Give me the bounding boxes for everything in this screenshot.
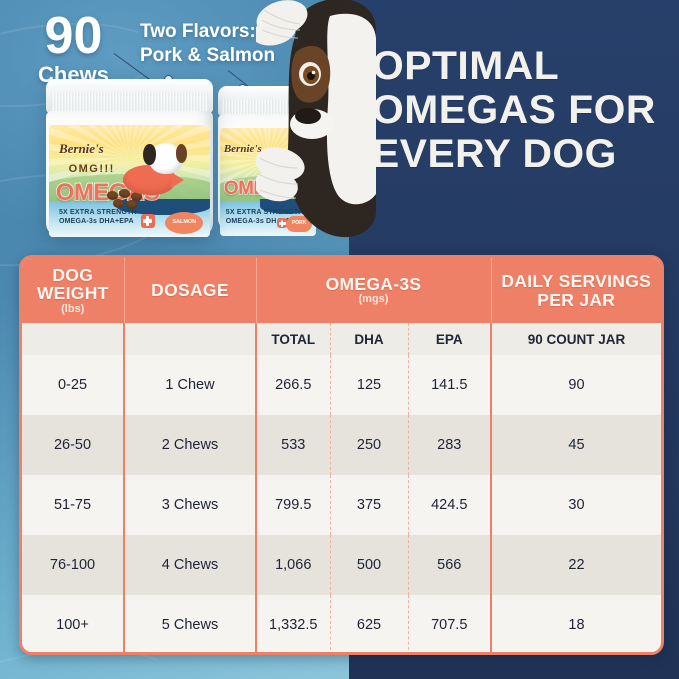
cell-epa: 283 — [408, 415, 491, 475]
cell-total: 1,332.5 — [256, 595, 330, 655]
puppy-illustration — [149, 143, 183, 174]
jar-omg-text: OMG!!! — [69, 163, 115, 175]
cell-dosage: 2 Chews — [124, 415, 256, 475]
cell-dha: 250 — [330, 415, 408, 475]
table-row: 26-50 2 Chews 533 250 283 45 — [22, 415, 661, 475]
header-omega-3s: OMEGA-3S (mgs) — [256, 258, 491, 323]
header-daily-servings: DAILY SERVINGS PER JAR — [491, 258, 661, 323]
jar-body: Bernie's OMG!!! OMEGAS 5X EXTRA STRENGTH… — [46, 111, 213, 237]
headline-line-1: OPTIMAL — [372, 44, 678, 88]
dosage-table-card: DOG WEIGHT (lbs) DOSAGE OMEGA-3S (mgs) D… — [19, 255, 664, 655]
jar-brand-front: Bernie's — [59, 141, 104, 157]
header-dog-weight: DOG WEIGHT (lbs) — [22, 258, 124, 323]
subheader-blank-2 — [124, 323, 256, 355]
cell-dosage: 4 Chews — [124, 535, 256, 595]
cell-weight: 51-75 — [22, 475, 124, 535]
subheader-epa: EPA — [408, 323, 491, 355]
jar-subtitle-front: 5X EXTRA STRENGTH OMEGA-3s DHA+EPA — [59, 209, 137, 227]
cell-servings: 18 — [491, 595, 661, 655]
callout-chews-count: 90 Chews — [38, 12, 109, 88]
table-row: 76-100 4 Chews 1,066 500 566 22 — [22, 535, 661, 595]
plus-icon — [141, 214, 155, 228]
jar-label-front: Bernie's OMG!!! OMEGAS 5X EXTRA STRENGTH… — [49, 125, 209, 237]
cell-dosage: 5 Chews — [124, 595, 256, 655]
cell-total: 266.5 — [256, 355, 330, 415]
subheader-count-jar: 90 COUNT JAR — [491, 323, 661, 355]
cell-servings: 90 — [491, 355, 661, 415]
table-row: 100+ 5 Chews 1,332.5 625 707.5 18 — [22, 595, 661, 655]
cell-dosage: 3 Chews — [124, 475, 256, 535]
cell-epa: 707.5 — [408, 595, 491, 655]
cell-total: 533 — [256, 415, 330, 475]
subheader-total: TOTAL — [256, 323, 330, 355]
subheader-dha: DHA — [330, 323, 408, 355]
cell-servings: 45 — [491, 415, 661, 475]
subheader-blank-1 — [22, 323, 124, 355]
table-header-row: DOG WEIGHT (lbs) DOSAGE OMEGA-3S (mgs) D… — [22, 258, 661, 323]
cell-weight: 26-50 — [22, 415, 124, 475]
header-dosage: DOSAGE — [124, 258, 256, 323]
cell-epa: 141.5 — [408, 355, 491, 415]
cell-servings: 30 — [491, 475, 661, 535]
cell-servings: 22 — [491, 535, 661, 595]
cell-dha: 500 — [330, 535, 408, 595]
cell-weight: 100+ — [22, 595, 124, 655]
product-jar-front: Bernie's OMG!!! OMEGAS 5X EXTRA STRENGTH… — [46, 79, 213, 237]
table-body: 0-25 1 Chew 266.5 125 141.5 90 26-50 2 C… — [22, 355, 661, 655]
cell-weight: 76-100 — [22, 535, 124, 595]
cell-total: 799.5 — [256, 475, 330, 535]
page-title: OPTIMAL OMEGAS FOR EVERY DOG — [372, 44, 678, 176]
cell-epa: 424.5 — [408, 475, 491, 535]
flavor-badge-salmon: SALMON — [165, 212, 203, 234]
headline-line-3: EVERY DOG — [372, 132, 678, 176]
cell-dosage: 1 Chew — [124, 355, 256, 415]
table-row: 0-25 1 Chew 266.5 125 141.5 90 — [22, 355, 661, 415]
cell-weight: 0-25 — [22, 355, 124, 415]
dog-illustration — [256, 0, 376, 246]
dosage-table: DOG WEIGHT (lbs) DOSAGE OMEGA-3S (mgs) D… — [22, 258, 661, 655]
jar-lid — [46, 79, 213, 113]
cell-dha: 125 — [330, 355, 408, 415]
cell-epa: 566 — [408, 535, 491, 595]
table-row: 51-75 3 Chews 799.5 375 424.5 30 — [22, 475, 661, 535]
cell-dha: 625 — [330, 595, 408, 655]
chews-count-number: 90 — [38, 12, 109, 61]
cell-total: 1,066 — [256, 535, 330, 595]
headline-line-2: OMEGAS FOR — [372, 88, 678, 132]
cell-dha: 375 — [330, 475, 408, 535]
table-subheader-row: TOTAL DHA EPA 90 COUNT JAR — [22, 323, 661, 355]
